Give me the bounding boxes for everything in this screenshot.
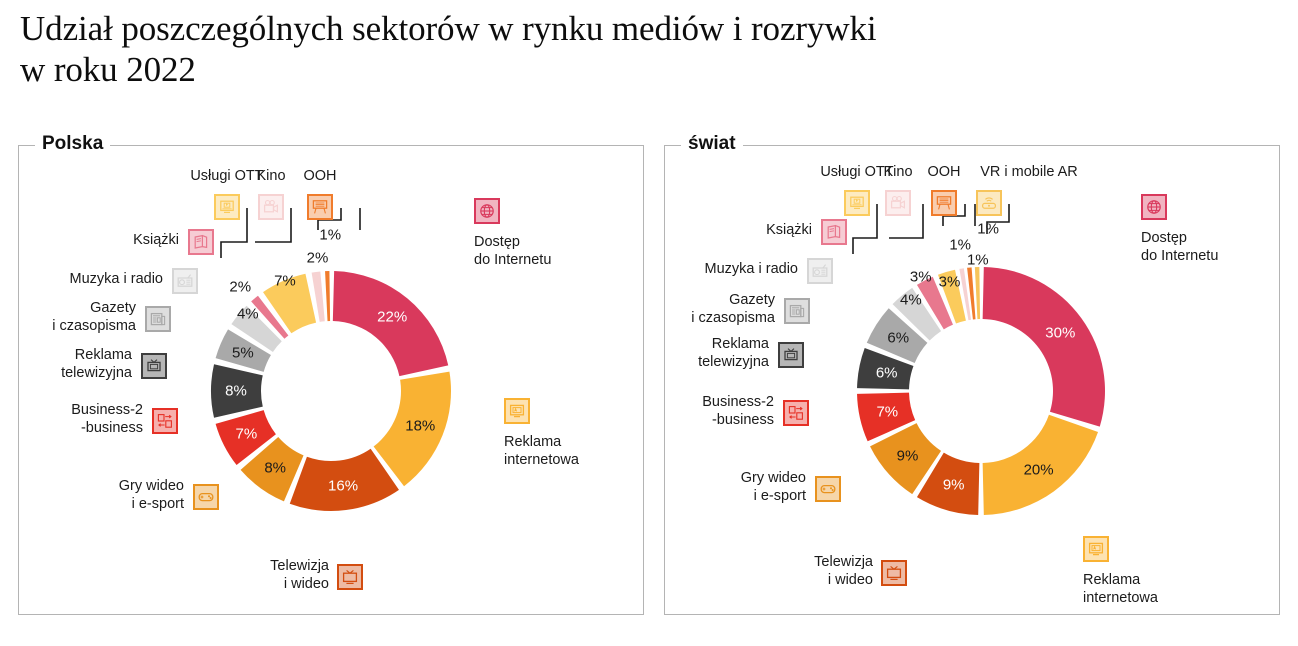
slice-value-books: 2% <box>229 278 251 295</box>
film-camera-icon <box>885 190 911 216</box>
slice-value-tv_ads: 8% <box>225 383 247 400</box>
legend-label-press: Gazetyi czasopisma <box>52 300 136 335</box>
legend-label-ooh-line1: OOH <box>927 164 960 182</box>
slice-value-internet_access: 22% <box>377 309 407 326</box>
legend-label-cinema: Kino <box>256 168 285 186</box>
television-icon <box>337 564 363 590</box>
legend-label-tv_ads-line2: telewizyjna <box>61 365 132 383</box>
legend-label-tv_ads: Reklamatelewizyjna <box>698 336 769 371</box>
legend-label-cinema-line1: Kino <box>883 164 912 182</box>
legend-label-b2b-line2: -business <box>702 412 774 430</box>
panel-poland: Polska 22%18%16%8%7%8%5%4%2%7%2%1%Dostęp… <box>18 145 644 615</box>
legend-label-press-line1: Gazety <box>52 300 136 318</box>
legend-label-tv_video-line1: Telewizja <box>814 554 873 572</box>
billboard-icon <box>307 194 333 220</box>
slice-value-internet_access: 30% <box>1045 325 1075 342</box>
donut-slice-vr_ar[interactable] <box>975 267 980 319</box>
legend-label-internet_access-line2: do Internetu <box>474 252 551 270</box>
legend-label-books: Książki <box>766 222 812 240</box>
tv-antenna-icon <box>778 342 804 368</box>
book-icon <box>821 219 847 245</box>
gamepad-icon <box>815 476 841 502</box>
legend-label-internet_access-line1: Dostęp <box>1141 230 1218 248</box>
slice-value-vr_ar: 1% <box>977 221 999 238</box>
legend-label-ooh: OOH <box>927 164 960 182</box>
page-root: Udział poszczególnych sektorów w rynku m… <box>0 0 1298 646</box>
legend-label-internet_access: Dostępdo Internetu <box>1141 230 1218 265</box>
billboard-icon <box>931 190 957 216</box>
legend-label-internet_access: Dostępdo Internetu <box>474 234 551 269</box>
documents-exchange-icon <box>152 408 178 434</box>
slice-value-b2b: 7% <box>236 426 258 443</box>
television-icon <box>881 560 907 586</box>
legend-label-video_games-line2: i e-sport <box>119 496 184 514</box>
legend-label-video_games: Gry wideoi e-sport <box>741 470 806 505</box>
gamepad-icon <box>193 484 219 510</box>
streaming-device-icon <box>214 194 240 220</box>
slice-value-cinema: 2% <box>307 250 329 267</box>
legend-label-internet_ads: Reklamainternetowa <box>504 434 579 469</box>
slice-value-ooh: 1% <box>967 251 989 268</box>
page-title-line2: w roku 2022 <box>20 49 1260 90</box>
legend-label-internet_ads-line1: Reklama <box>504 434 579 452</box>
legend-label-tv_ads-line1: Reklama <box>698 336 769 354</box>
film-camera-icon <box>258 194 284 220</box>
legend-label-music_radio: Muzyka i radio <box>705 261 798 279</box>
legend-label-vr_ar-line1: VR i mobile AR <box>980 164 1078 182</box>
radio-icon <box>172 268 198 294</box>
legend-label-ooh-line1: OOH <box>303 168 336 186</box>
slice-value-internet_ads: 18% <box>405 418 435 435</box>
legend-label-video_games-line1: Gry wideo <box>741 470 806 488</box>
legend-label-press-line2: i czasopisma <box>52 318 136 336</box>
slice-value-ott: 7% <box>274 272 296 289</box>
legend-label-books: Książki <box>133 232 179 250</box>
donut-slice-internet_access[interactable] <box>983 267 1105 427</box>
globe-icon <box>474 198 500 224</box>
legend-label-press: Gazetyi czasopisma <box>691 292 775 327</box>
legend-label-cinema: Kino <box>883 164 912 182</box>
monitor-ad-icon <box>1083 536 1109 562</box>
tv-antenna-icon <box>141 353 167 379</box>
slice-value-b2b: 7% <box>876 403 898 420</box>
legend-label-tv_ads-line2: telewizyjna <box>698 354 769 372</box>
slice-value-press: 5% <box>232 344 254 361</box>
slice-value-video_games: 8% <box>264 459 286 476</box>
legend-label-ott-line1: Usługi OTT <box>190 168 263 186</box>
legend-label-ott: Usługi OTT <box>190 168 263 186</box>
legend-label-b2b: Business-2-business <box>702 394 774 429</box>
legend-label-b2b-line2: -business <box>71 420 143 438</box>
legend-label-b2b-line1: Business-2 <box>71 402 143 420</box>
slice-value-press: 6% <box>887 330 909 347</box>
legend-label-tv_video-line2: i wideo <box>814 572 873 590</box>
donut-slice-ooh[interactable] <box>325 271 330 321</box>
legend-label-internet_access-line1: Dostęp <box>474 234 551 252</box>
legend-label-cinema-line1: Kino <box>256 168 285 186</box>
page-title-line1: Udział poszczególnych sektorów w rynku m… <box>20 9 877 48</box>
page-title: Udział poszczególnych sektorów w rynku m… <box>20 8 1260 91</box>
streaming-device-icon <box>844 190 870 216</box>
legend-label-tv_ads: Reklamatelewizyjna <box>61 347 132 382</box>
legend-label-internet_ads-line1: Reklama <box>1083 572 1158 590</box>
legend-label-b2b: Business-2-business <box>71 402 143 437</box>
vr-headset-icon <box>976 190 1002 216</box>
slice-value-tv_video: 16% <box>328 478 358 495</box>
monitor-ad-icon <box>504 398 530 424</box>
legend-label-music_radio-line1: Muzyka i radio <box>70 271 163 289</box>
donut-chart-world: 30%20%9%9%7%6%6%4%3%3%1%1%1%Dostępdo Int… <box>665 146 1279 614</box>
legend-label-books-line1: Książki <box>133 232 179 250</box>
slice-value-tv_ads: 6% <box>876 365 898 382</box>
legend-label-tv_video-line1: Telewizja <box>270 558 329 576</box>
legend-label-press-line2: i czasopisma <box>691 310 775 328</box>
slice-value-music_radio: 4% <box>237 306 259 323</box>
legend-label-vr_ar: VR i mobile AR <box>980 164 1078 182</box>
slice-value-ott: 3% <box>939 273 961 290</box>
donut-svg-world <box>665 146 1281 616</box>
legend-label-music_radio: Muzyka i radio <box>70 271 163 289</box>
legend-label-tv_video-line2: i wideo <box>270 576 329 594</box>
slice-value-video_games: 9% <box>897 447 919 464</box>
legend-label-music_radio-line1: Muzyka i radio <box>705 261 798 279</box>
newspaper-icon <box>784 298 810 324</box>
radio-icon <box>807 258 833 284</box>
legend-label-tv_video: Telewizjai wideo <box>270 558 329 593</box>
globe-icon <box>1141 194 1167 220</box>
slice-value-music_radio: 4% <box>900 292 922 309</box>
documents-exchange-icon <box>783 400 809 426</box>
slice-value-ooh: 1% <box>319 227 341 244</box>
slice-value-tv_video: 9% <box>943 477 965 494</box>
legend-label-internet_ads-line2: internetowa <box>504 452 579 470</box>
legend-label-books-line1: Książki <box>766 222 812 240</box>
legend-label-internet_ads-line2: internetowa <box>1083 590 1158 608</box>
legend-label-video_games: Gry wideoi e-sport <box>119 478 184 513</box>
panel-world: świat 30%20%9%9%7%6%6%4%3%3%1%1%1%Dostęp… <box>664 145 1280 615</box>
slice-value-books: 3% <box>910 268 932 285</box>
legend-label-internet_ads: Reklamainternetowa <box>1083 572 1158 607</box>
legend-label-video_games-line1: Gry wideo <box>119 478 184 496</box>
legend-label-b2b-line1: Business-2 <box>702 394 774 412</box>
legend-label-press-line1: Gazety <box>691 292 775 310</box>
legend-label-internet_access-line2: do Internetu <box>1141 248 1218 266</box>
book-icon <box>188 229 214 255</box>
legend-label-tv_video: Telewizjai wideo <box>814 554 873 589</box>
donut-chart-poland: 22%18%16%8%7%8%5%4%2%7%2%1%Dostępdo Inte… <box>19 146 643 614</box>
slice-value-internet_ads: 20% <box>1024 462 1054 479</box>
legend-label-video_games-line2: i e-sport <box>741 488 806 506</box>
newspaper-icon <box>145 306 171 332</box>
legend-label-tv_ads-line1: Reklama <box>61 347 132 365</box>
legend-label-ooh: OOH <box>303 168 336 186</box>
